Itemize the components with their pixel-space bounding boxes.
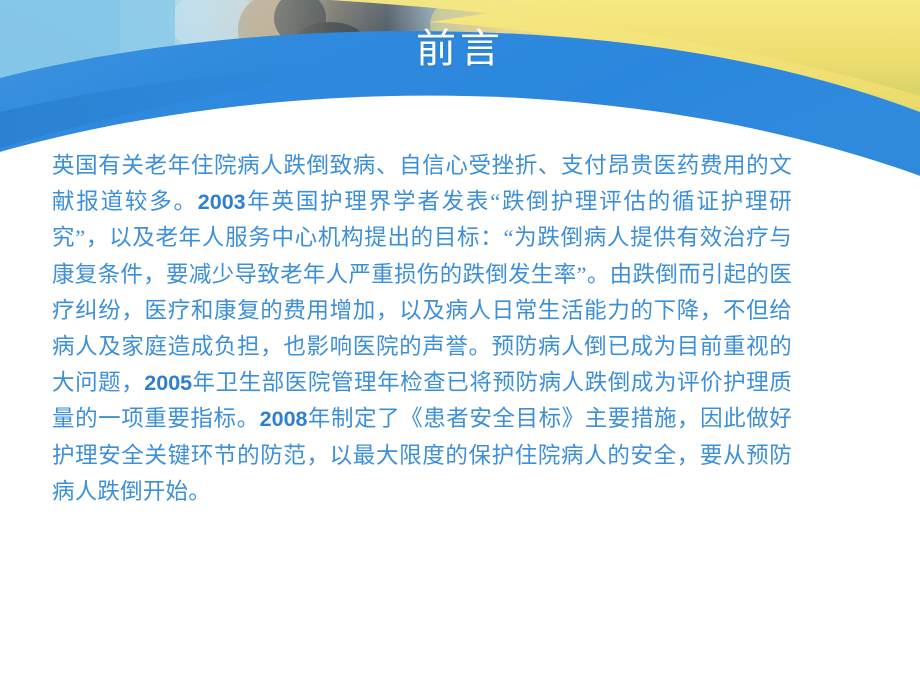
slide: 前言 英国有关老年住院病人跌倒致病、自信心受挫折、支付昂贵医药费用的文献报道较多… [0,0,920,690]
preface-paragraph: 英国有关老年住院病人跌倒致病、自信心受挫折、支付昂贵医药费用的文献报道较多。20… [52,148,792,510]
year-2008: 2008 [260,407,308,431]
year-2005: 2005 [144,371,192,395]
year-2003: 2003 [198,190,246,214]
page-title: 前言 [0,26,920,72]
body-content: 英国有关老年住院病人跌倒致病、自信心受挫折、支付昂贵医药费用的文献报道较多。20… [52,148,792,510]
paragraph-segment-2: 年英国护理界学者发表“跌倒护理评估的循证护理研究”，以及老年人服务中心机构提出的… [52,189,792,395]
